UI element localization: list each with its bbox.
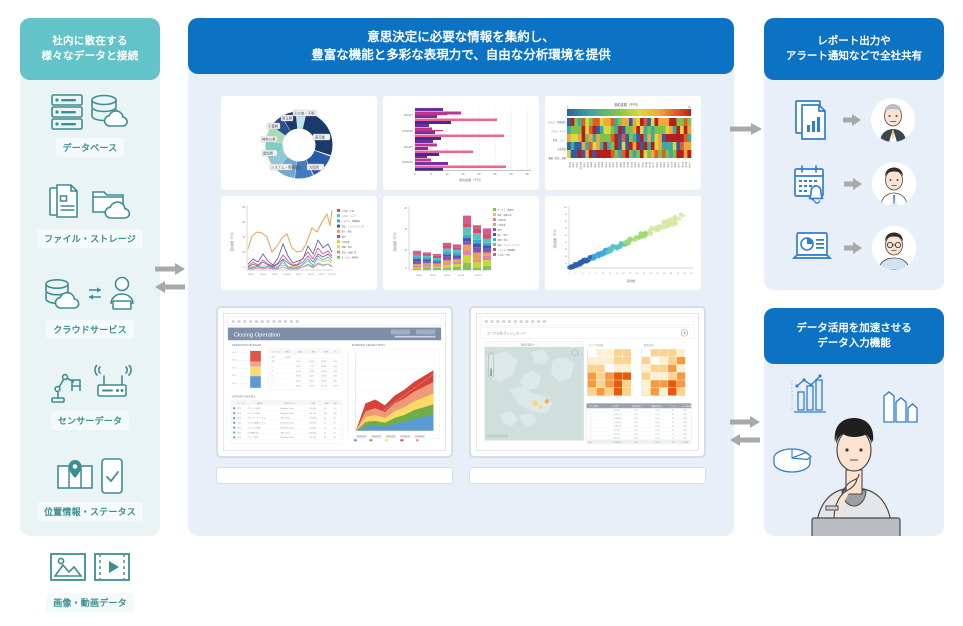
data-source-label: ファイル・ストレージ [37,229,143,248]
data-source-label: クラウドサービス [46,320,134,339]
share-row-alert[interactable] [764,152,944,216]
svg-text:OMT Cloud: OMT Cloud [280,418,289,420]
svg-text:2018/1: 2018/1 [416,275,423,277]
arrow-right-icon [844,177,862,191]
svg-text:東京都: 東京都 [568,162,572,168]
svg-text:新潟県: 新潟県 [615,162,619,168]
data-source-item-sensor[interactable]: センサーデータ [20,353,160,444]
svg-text:30: 30 [670,273,672,275]
caption-line-1: データ活用を加速させる [796,321,912,336]
svg-text:4,120: 4,120 [682,414,686,416]
svg-text:神奈川県: 神奈川県 [579,162,583,170]
geo-analytics-dashboard: エリア分析ダッシュボード 地域を選択 ▾ [477,314,698,450]
caption-line-1: 社内に散在する [52,34,128,49]
svg-text:8: 8 [590,437,591,439]
svg-text:熊本県: 熊本県 [644,162,648,168]
svg-text:100.4: 100.4 [655,442,659,444]
svg-text:40%: 40% [334,361,338,363]
data-source-item-file-storage[interactable]: ファイル・ストレージ [20,171,160,262]
svg-text:GAP: GAP [324,351,329,354]
svg-text:北海道: 北海道 [593,162,597,168]
svg-text:3.2: 3.2 [672,442,674,444]
svg-text:100%: 100% [334,385,339,387]
pie-chart-3d-icon [774,449,811,472]
svg-text:広島県: 広島県 [604,162,608,168]
svg-text:建設・設備工事: 建設・設備工事 [498,213,512,217]
svg-text:24: 24 [650,273,652,275]
arrow-right-icon [730,415,760,429]
svg-text:0: 0 [414,172,416,176]
svg-text:栃木県: 栃木県 [630,162,634,168]
svg-text:10: 10 [602,273,604,275]
svg-text:2018/7: 2018/7 [430,275,437,277]
svg-text:2: 2 [575,273,576,275]
data-source-label: 画像・動画データ [46,593,134,612]
share-row-list [764,88,944,280]
svg-text:千葉県: 千葉県 [582,162,586,168]
mobile-check-icon [99,456,125,496]
svg-text:582,100: 582,100 [309,437,316,439]
svg-text:製造・エンジ: 製造・エンジ [553,138,567,142]
svg-text:32: 32 [677,273,679,275]
svg-text:60: 60 [324,408,326,410]
report-document-icon [793,98,833,142]
share-row-report[interactable] [764,88,944,152]
svg-text:長崎県: 長崎県 [659,162,663,168]
analytics-platform-caption: 意思決定に必要な情報を集約し、 豊富な機能と多彩な表現力で、自由な分析環境を提供 [188,18,734,74]
svg-text:100: 100 [324,413,327,415]
svg-text:鹿児島: 鹿児島 [648,162,652,168]
svg-text:京都府: 京都府 [608,162,612,168]
database-cloud-icon [88,92,130,132]
svg-text:105.8: 105.8 [634,426,638,428]
calendar-alert-icon [792,162,834,206]
svg-text:2018/8: 2018/8 [444,275,451,277]
svg-text:ハウス・メンテ: ハウス・メンテ [551,129,566,133]
svg-text:60%: 60% [334,371,338,373]
svg-text:運輸・物流: 運輸・物流 [498,238,508,242]
svg-text:1,110,330: 1,110,330 [614,422,622,424]
data-source-label: センサーデータ [51,411,129,430]
svg-text:80: 80 [565,221,568,223]
svg-text:4: 4 [271,371,272,373]
svg-text:100.1: 100.1 [655,437,659,439]
scatter-chart-card[interactable]: 1009080 706050 403020 契約金額（千円） 契約数 02468… [545,196,701,290]
svg-text:20: 20 [404,207,407,210]
heatmap-chart: 契約金額（千円） 0 50 システム・情報通信 [545,96,701,190]
svg-text:福岡県: 福岡県 [590,162,594,168]
svg-text:大分県: 大分県 [677,162,681,168]
data-input-panel: データ活用を加速させる データ入力機能 [764,308,944,536]
svg-text:32,000: 32,000 [285,356,291,358]
svg-text:輸入・販売: 輸入・販売 [498,233,508,237]
svg-text:928,400: 928,400 [614,410,620,412]
svg-text:103.3: 103.3 [634,433,638,435]
svg-text:埼玉県: 埼玉県 [282,116,293,121]
svg-text:システム・情報通信: システム・情報通信 [271,165,302,170]
svg-text:109.6: 109.6 [634,418,638,420]
svg-text:兵庫県: 兵庫県 [597,162,601,168]
data-source-item-database[interactable]: データベース [20,80,160,171]
svg-text:100.2: 100.2 [655,430,659,432]
svg-text:100.1: 100.1 [655,414,659,416]
heatmap-chart-card[interactable]: 契約金額（千円） 0 50 システム・情報通信 [545,96,701,190]
svg-text:日本産業: 日本産業 [342,240,350,244]
svg-text:60: 60 [324,418,326,420]
svg-text:2.4: 2.4 [672,430,674,432]
svg-text:2018/7: 2018/7 [404,145,414,149]
svg-text:2.8: 2.8 [672,426,674,428]
svg-text:50: 50 [242,221,245,224]
svg-text:契約金額（千円）: 契約金額（千円） [459,177,483,182]
svg-text:50: 50 [565,242,568,244]
svg-text:5: 5 [430,172,432,176]
svg-text:Wonderful Cloud: Wonderful Cloud [280,423,294,425]
svg-text:82%: 82% [334,376,338,378]
svg-text:20: 20 [636,273,638,275]
image-icon [48,550,88,584]
svg-text:滋賀県: 滋賀県 [663,162,667,168]
svg-text:サービス・教育他: サービス・教育他 [342,256,359,260]
caption-line-1: レポート出力や [817,34,891,49]
svg-text:埼玉県: 埼玉県 [586,162,590,168]
data-input-caption: データ活用を加速させる データ入力機能 [764,308,944,364]
svg-text:契約金額（千円）: 契約金額（千円） [553,228,557,249]
svg-text:7: 7 [590,433,591,435]
svg-text:OMT Cloud: OMT Cloud [280,432,289,434]
svg-text:契約金額（千円）: 契約金額（千円） [393,231,397,252]
svg-text:15: 15 [461,172,465,176]
svg-text:2017/4: 2017/4 [308,274,315,276]
svg-text:日本産業: 日本産業 [557,147,567,151]
svg-text:茨城県: 茨城県 [633,162,637,168]
svg-text:104.1: 104.1 [634,414,638,416]
svg-text:4.8: 4.8 [672,410,674,412]
svg-text:931,100: 931,100 [309,413,316,415]
svg-text:その他・不明: その他・不明 [498,253,510,257]
connector-sidebar-middle [155,262,185,294]
svg-text:4,210: 4,210 [682,410,686,412]
svg-text:2018/10: 2018/10 [402,160,413,164]
svg-text:70: 70 [324,423,326,425]
user-laptop-icon [107,274,137,314]
svg-text:%: % [335,352,337,354]
svg-text:OPERATING BUDGET: OPERATING BUDGET [232,343,262,347]
svg-text:群馬県: 群馬県 [626,162,630,168]
svg-text:300,700: 300,700 [309,423,316,425]
data-source-item-location-status[interactable]: 位置情報・ステータス [20,444,160,535]
svg-text:36: 36 [690,273,692,275]
svg-text:26: 26 [656,273,658,275]
connector-middle-reports [730,122,762,141]
svg-text:宮城県: 宮城県 [612,162,616,168]
data-source-item-image-video[interactable]: 画像・動画データ [20,535,160,626]
svg-text:60: 60 [334,427,336,429]
svg-text:2: 2 [590,414,591,416]
database-cloud-icon [43,274,83,314]
svg-text:60: 60 [565,235,568,237]
svg-text:2016/4: 2016/4 [260,274,267,276]
svg-text:987,002: 987,002 [614,430,620,432]
svg-text:3.9: 3.9 [672,418,674,420]
svg-text:11,208,100: 11,208,100 [613,442,622,444]
svg-text:3,821: 3,821 [682,430,686,432]
svg-text:3: 3 [590,418,591,420]
svg-text:輸入・販売: 輸入・販売 [342,230,352,234]
svg-text:30: 30 [565,256,568,258]
caption-line-1: 意思決定に必要な情報を集約し、 [367,28,555,46]
svg-text:60: 60 [324,427,326,429]
svg-text:専門: 専門 [342,235,346,239]
monitor-stand [216,467,453,484]
svg-text:1,008,600: 1,008,600 [614,418,622,420]
svg-text:3,511: 3,511 [682,437,686,439]
svg-text:30: 30 [509,172,513,176]
svg-text:0: 0 [568,273,569,275]
svg-text:2,380: 2,380 [309,371,314,373]
svg-text:50,714: 50,714 [321,385,327,387]
svg-text:長野県: 長野県 [619,162,623,168]
svg-text:2017/7: 2017/7 [319,274,326,276]
svg-text:10: 10 [404,249,407,252]
svg-text:GAP: GAP [334,402,339,405]
person-figure [812,418,900,536]
svg-text:100.8: 100.8 [655,426,659,428]
svg-text:6,900: 6,900 [309,381,314,383]
exchange-arrows-icon [87,283,103,305]
svg-text:大阪府: 大阪府 [309,165,320,170]
caption-line-2: 様々なデータと接続 [41,49,138,64]
donut-chart-card[interactable]: 東京都 大阪府 システム・情報通信 愛知県 神奈川県 千葉県 埼玉県 その他・不… [221,96,377,190]
svg-text:製造・エンジニアリング: 製造・エンジニアリング [498,243,520,247]
svg-text:680,400: 680,400 [309,432,316,434]
dashboard-monitor-row: Closing Operation OPERATING BUDGET EARNI… [216,306,706,484]
svg-text:5000: 5000 [232,352,238,354]
svg-text:9,430: 9,430 [309,361,314,363]
svg-text:2: 2 [271,381,272,383]
svg-text:千葉県: 千葉県 [268,124,279,129]
share-row-dashboard[interactable] [764,216,944,280]
svg-text:1: 1 [590,410,591,412]
svg-text:70: 70 [565,228,568,230]
svg-text:4: 4 [582,273,583,275]
svg-text:1,068,172: 1,068,172 [614,414,622,416]
svg-text:18,760: 18,760 [296,376,302,378]
data-source-item-cloud-service[interactable]: クラウドサービス [20,262,160,353]
svg-text:その他: その他 [688,162,692,168]
svg-text:1.8: 1.8 [672,437,674,439]
caption-line-2: データ入力機能 [817,336,891,351]
svg-text:2019/8: 2019/8 [458,275,465,277]
svg-text:富山県: 富山県 [685,162,689,168]
svg-text:60: 60 [324,437,326,439]
svg-text:25: 25 [493,172,497,176]
map-pin-icon [55,456,95,496]
svg-text:1000: 1000 [232,383,238,385]
svg-text:5: 5 [271,366,272,368]
svg-text:その他・不明: その他・不明 [294,111,315,116]
svg-text:26,100: 26,100 [296,381,302,383]
arrow-right-icon [843,113,861,127]
scatter-chart: 1009080 706050 403020 契約金額（千円） 契約数 02468… [545,196,701,290]
svg-text:10,801: 10,801 [321,381,327,383]
svg-text:80: 80 [334,423,336,425]
svg-text:2000: 2000 [232,375,238,377]
svg-text:7,400: 7,400 [296,361,301,363]
wireless-sensor-icon [90,365,132,405]
svg-text:60: 60 [242,206,245,209]
closing-operation-dashboard: Closing Operation OPERATING BUDGET EARNI… [224,314,445,450]
svg-text:100.3: 100.3 [655,410,659,412]
bar-chart-3d-icon [884,392,917,422]
svg-text:20: 20 [477,172,481,176]
svg-text:16: 16 [622,273,624,275]
arrow-right-icon [155,262,185,276]
svg-text:3.6: 3.6 [672,414,674,416]
svg-text:専門: 専門 [498,228,502,232]
documents-icon [48,183,86,223]
svg-text:愛媛県: 愛媛県 [655,162,659,168]
svg-text:2017/1: 2017/1 [296,274,303,276]
svg-text:50: 50 [688,106,691,109]
svg-text:0: 0 [406,267,408,270]
svg-text:6: 6 [589,273,590,275]
svg-text:8,070: 8,070 [296,366,301,368]
svg-text:4: 4 [590,422,591,424]
svg-text:10,260: 10,260 [296,371,302,373]
svg-text:66%: 66% [334,366,338,368]
svg-text:3,944: 3,944 [682,426,686,428]
svg-text:48,610: 48,610 [296,385,302,387]
avatar-executive [871,98,915,142]
svg-text:5: 5 [590,426,591,428]
arrow-left-icon [155,280,185,294]
svg-text:システム・情報通信: システム・情報通信 [546,120,566,124]
dashboard-title: Closing Operation [234,332,280,338]
svg-text:31,338: 31,338 [682,442,687,444]
svg-text:山口県: 山口県 [652,162,656,168]
svg-text:102.6: 102.6 [634,437,638,439]
svg-text:15: 15 [404,228,407,231]
data-source-label: データベース [56,138,125,157]
svg-text:日本産業: 日本産業 [498,223,506,227]
svg-text:4000: 4000 [232,360,238,362]
svg-text:100.4: 100.4 [655,422,659,424]
laptop-dashboard-icon [792,228,834,268]
svg-text:130,880: 130,880 [309,427,316,429]
svg-text:岡山県: 岡山県 [641,162,645,168]
svg-text:システム・情報通信: システム・情報通信 [498,248,516,252]
svg-text:98%: 98% [334,381,338,383]
svg-text:EARNING TRAJECTORY: EARNING TRAJECTORY [352,343,385,347]
svg-text:13,871: 13,871 [321,376,327,378]
line-bar-chart-icon [792,374,826,412]
svg-text:OPPORTUNITIES: OPPORTUNITIES [232,395,256,399]
svg-text:2018/10: 2018/10 [402,129,413,133]
svg-text:2,170: 2,170 [309,366,314,368]
svg-text:12: 12 [609,273,611,275]
robot-arm-icon [48,365,86,405]
businessman-with-laptop-illustration [764,370,944,536]
svg-text:0: 0 [567,106,569,109]
svg-text:岩手県: 岩手県 [670,162,674,168]
svg-text:101.2: 101.2 [634,410,638,412]
svg-text:90: 90 [565,214,568,216]
horizontal-bar-chart-card[interactable]: 2019/72018/10 2018/72018/10 0510 152025 … [383,96,539,190]
svg-text:3000: 3000 [232,367,238,369]
svg-text:運輸・物流: 運輸・物流 [342,245,352,249]
monitor-stand [469,467,706,484]
svg-text:60: 60 [334,437,336,439]
avatar-staff [872,162,916,206]
caption-line-2: アラート通知などで全社共有 [786,49,922,64]
svg-text:22: 22 [643,273,645,275]
svg-text:60: 60 [324,432,326,434]
line-chart-card[interactable]: 605040 200 契約金額（千円） 2016/12016/42016/7 2… [221,196,377,290]
svg-text:2016/10: 2016/10 [283,274,291,276]
svg-text:サービス・教育他: サービス・教育他 [498,208,514,212]
geo-analytics-monitor[interactable]: エリア分析ダッシュボード 地域を選択 ▾ [469,306,706,484]
chart-card-grid: 東京都 大阪府 システム・情報通信 愛知県 神奈川県 千葉県 埼玉県 その他・不… [221,96,701,290]
svg-text:2019/11: 2019/11 [474,275,482,277]
svg-text:10: 10 [445,172,449,176]
connector-middle-input [730,415,760,447]
svg-text:愛知県: 愛知県 [263,151,274,156]
svg-text:66: 66 [334,418,336,420]
svg-text:8: 8 [596,273,597,275]
video-play-icon [92,550,132,584]
svg-text:14: 14 [616,273,618,275]
svg-text:40: 40 [242,236,245,239]
data-source-list: データベース [20,80,160,626]
svg-text:2019/7: 2019/7 [404,113,414,117]
avatar-analyst [872,226,916,270]
svg-text:18,980: 18,980 [321,366,327,368]
stacked-bar-chart: 2015100 契約金額（千円） 2018/12018/72018/8 2019… [383,196,539,290]
svg-text:製造・エンジニアリング: 製造・エンジニアリング [342,224,365,228]
svg-text:2017/10: 2017/10 [328,274,336,276]
line-chart: 605040 200 契約金額（千円） 2016/12016/42016/7 2… [221,196,377,290]
arrow-right-icon [844,241,862,255]
svg-text:60: 60 [334,432,336,434]
closing-operation-monitor[interactable]: Closing Operation OPERATING BUDGET EARNI… [216,306,453,484]
svg-text:岐阜県: 岐阜県 [623,162,627,168]
svg-text:3.2: 3.2 [672,422,674,424]
svg-text:35: 35 [525,172,529,176]
svg-text:1: 1 [271,385,272,387]
svg-text:486,100: 486,100 [309,408,316,410]
svg-text:三重県: 三重県 [637,162,641,168]
svg-text:3: 3 [271,376,272,378]
svg-text:2016/1: 2016/1 [248,274,255,276]
donut-chart: 東京都 大阪府 システム・情報通信 愛知県 神奈川県 千葉県 埼玉県 その他・不… [221,96,377,190]
svg-text:3,640: 3,640 [682,433,686,435]
svg-text:Wonderful Cloud: Wonderful Cloud [280,427,294,429]
stacked-bar-chart-card[interactable]: 2015100 契約金額（千円） 2018/12018/72018/8 2019… [383,196,539,290]
svg-text:契約金額（千円）: 契約金額（千円） [230,231,234,252]
svg-text:中間流通: 中間流通 [498,218,506,222]
svg-text:Wonderful Cloud: Wonderful Cloud [280,413,294,415]
svg-text:18: 18 [629,273,631,275]
svg-text:4,007: 4,007 [309,376,314,378]
svg-text:100: 100 [334,413,337,415]
report-sharing-panel: レポート出力や アラート通知などで全社共有 [764,18,944,290]
svg-text:Wonderful Cloud: Wonderful Cloud [280,437,294,439]
svg-text:石川県: 石川県 [681,162,685,168]
svg-text:104.5: 104.5 [634,442,638,444]
svg-text:901,710: 901,710 [614,433,620,435]
svg-text:月別分析: 月別分析 [644,343,655,347]
